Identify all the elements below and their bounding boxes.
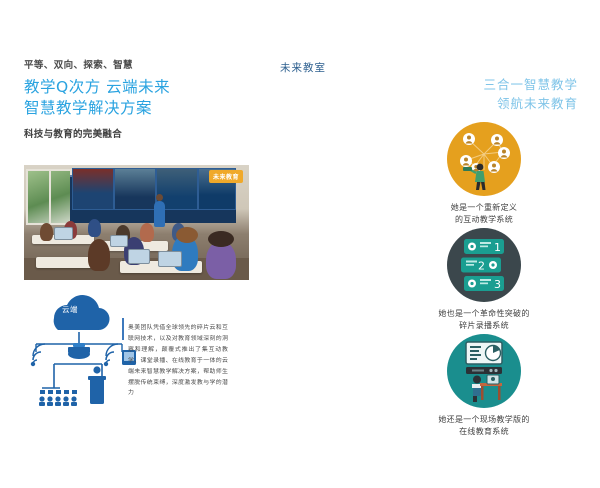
cloud-architecture-diagram: 云端 [24, 292, 144, 410]
wifi-dot [31, 362, 35, 366]
classroom-photo: 未来教育 [24, 165, 249, 280]
left-heading-block: 平等、双向、探索、智慧 教学Q次方 云端未来 智慧教学解决方案 科技与教育的完美… [24, 60, 264, 140]
photo-student [40, 223, 53, 241]
photo-badge: 未来教育 [209, 170, 243, 183]
feature-item-fragment-recording: 1 2 3 她也是一个革命性突破的 碎片录播系统 [384, 228, 584, 333]
recording-cards-svg: 1 2 3 [447, 228, 521, 302]
feature-item-online-education: 她还是一个现场教学版的 在线教育系统 [384, 334, 584, 439]
student-seats-icon [39, 390, 77, 406]
feature-caption: 她是一个重新定义 的互动教学系统 [384, 202, 584, 227]
online-classroom-icon [447, 334, 521, 408]
photo-teacher [154, 201, 165, 227]
server-icon [68, 343, 90, 359]
section-label-future-classroom: 未来教室 [280, 60, 326, 75]
wifi-icon [33, 344, 45, 364]
photo-tablet [158, 251, 182, 267]
photo-screen-panel [114, 168, 156, 210]
feature-item-interactive-teaching: 她是一个重新定义 的互动教学系统 [384, 122, 584, 227]
podium-icon [88, 366, 106, 404]
photo-window [26, 169, 72, 225]
photo-tablet [54, 227, 73, 240]
network-nodes-icon [447, 122, 521, 196]
page-title: 教学Q次方 云端未来 智慧教学解决方案 [24, 77, 264, 119]
card-number: 1 [494, 241, 501, 254]
eyebrow-text: 平等、双向、探索、智慧 [24, 60, 264, 71]
diagram-svg [24, 292, 144, 410]
network-nodes-svg [447, 122, 521, 196]
photo-student [88, 239, 110, 271]
subtitle-text: 科技与教育的完美融合 [24, 126, 264, 140]
photo-student [208, 231, 234, 247]
poster-canvas: 平等、双向、探索、智慧 教学Q次方 云端未来 智慧教学解决方案 科技与教育的完美… [0, 0, 600, 488]
copy-accent-bar [122, 318, 124, 340]
photo-tablet [110, 235, 128, 247]
photo-scene: 未来教育 [24, 165, 249, 280]
photo-student [88, 219, 101, 237]
wifi-icon [106, 344, 118, 364]
photo-screen-panel [72, 168, 114, 210]
online-classroom-svg [447, 334, 521, 408]
recording-cards-icon: 1 2 3 [447, 228, 521, 302]
seated-person [472, 376, 482, 403]
feature-caption: 她也是一个革命性突破的 碎片录播系统 [384, 308, 584, 333]
card-number: 3 [494, 278, 501, 291]
card-number: 2 [478, 260, 485, 273]
wifi-dot [104, 362, 108, 366]
photo-tablet [128, 249, 150, 264]
feature-caption: 她还是一个现场教学版的 在线教育系统 [384, 414, 584, 439]
cloud-label: 云端 [62, 304, 78, 315]
body-paragraph: 奥美团队凭借全球领先的碎片云和互联网技术，以及对教育领域深刻的洞察和理解，颠覆式… [128, 323, 228, 399]
photo-student [140, 223, 154, 242]
photo-student [176, 227, 198, 243]
right-title: 三合一智慧教学 领航未来教育 [483, 76, 578, 114]
